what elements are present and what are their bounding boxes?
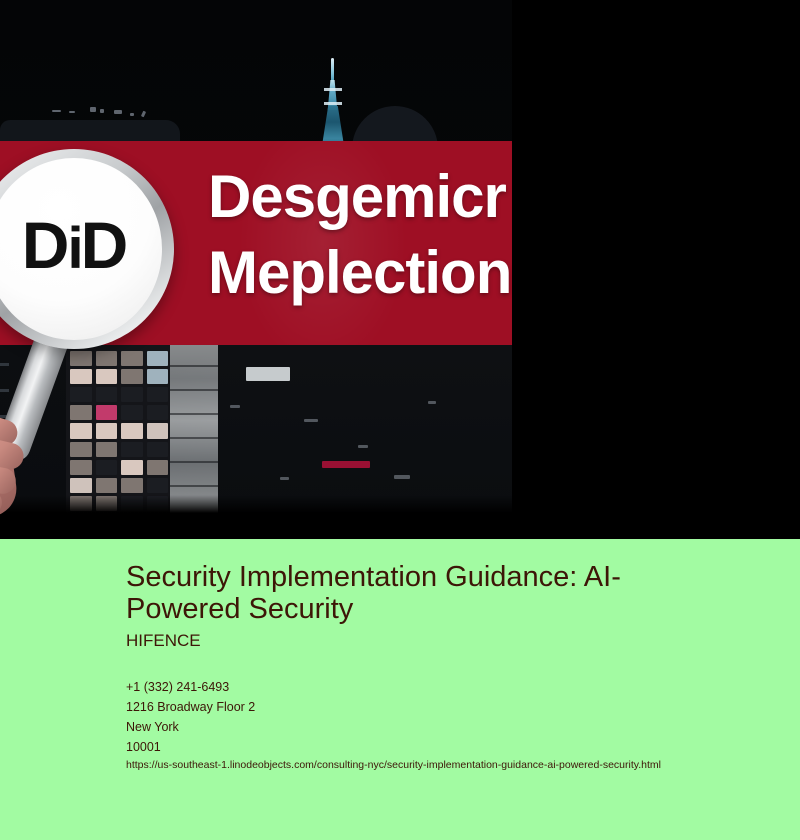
contact-city: New York [126,717,255,737]
hero-image: Desgemicr Meplection DiD [0,0,800,539]
did-logo-mid: i [67,216,80,281]
did-logo-right: D [81,208,127,282]
contact-street: 1216 Broadway Floor 2 [126,697,255,717]
page-root: Desgemicr Meplection DiD [0,0,800,840]
building-right [218,345,512,513]
photo-bottom-fade [0,495,512,513]
banner-headline-line2: Meplection [208,235,538,311]
page-url-link[interactable]: https://us-southeast-1.linodeobjects.com… [126,758,661,772]
page-title: Security Implementation Guidance: AI-Pow… [126,561,686,625]
organization-name: HIFENCE [126,631,201,651]
magnifier-lens: DiD [0,158,162,340]
contact-details: +1 (332) 241-6493 1216 Broadway Floor 2 … [126,677,255,757]
contact-postal-code: 10001 [126,737,255,757]
hand-holding-magnifier [0,411,36,521]
red-banner: Desgemicr Meplection DiD [0,141,512,345]
banner-headline-line1: Desgemicr [208,159,538,235]
rooftop-lights [52,106,162,118]
rooftop-sign [246,367,290,381]
magnifying-glass-icon: DiD [0,149,182,479]
magnifier-ring: DiD [0,149,174,349]
did-logo-left: D [22,208,68,282]
did-logo: DiD [22,212,126,278]
contact-phone: +1 (332) 241-6493 [126,677,255,697]
content-panel: Security Implementation Guidance: AI-Pow… [0,539,800,840]
neon-sign [322,461,370,468]
illuminated-spire [320,58,346,150]
